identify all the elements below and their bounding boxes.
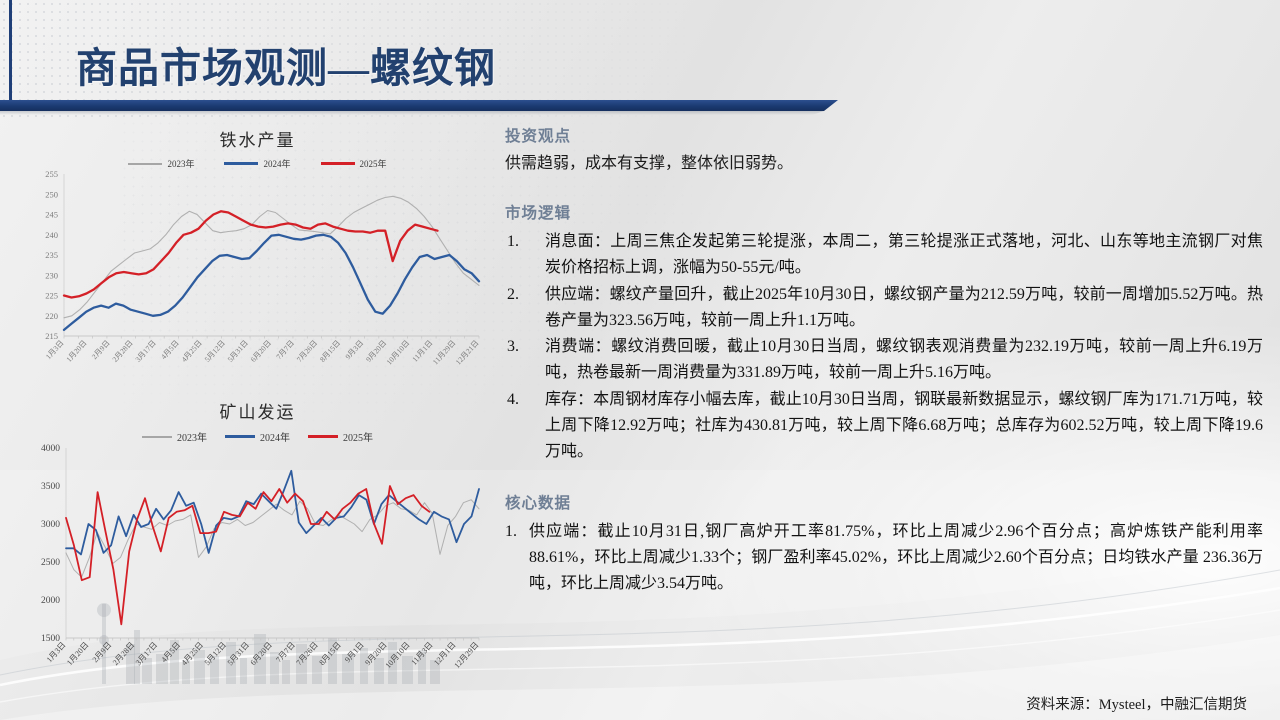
svg-text:8月15日: 8月15日 bbox=[318, 338, 342, 364]
svg-text:2000: 2000 bbox=[41, 596, 60, 606]
legend-swatch-2025 bbox=[321, 162, 355, 165]
section-heading-market-logic: 市场逻辑 bbox=[505, 201, 1263, 223]
legend-label-2025: 2025年 bbox=[360, 157, 387, 170]
list-item-text: 供应端：螺纹产量回升，截止2025年10月30日，螺纹钢产量为212.59万吨，… bbox=[545, 286, 1263, 329]
header-accent-bar-shadow bbox=[0, 111, 838, 115]
svg-text:12月21日: 12月21日 bbox=[454, 338, 481, 366]
chart1-legend: 2023年 2024年 2025年 bbox=[30, 157, 485, 170]
market-logic-list: 1. 消息面：上周三焦企发起第三轮提涨，本周二，第三轮提涨正式落地，河北、山东等… bbox=[505, 229, 1263, 465]
source-note: 资料来源：Mysteel，中融汇信期货 bbox=[1026, 693, 1247, 714]
svg-text:7月26日: 7月26日 bbox=[294, 640, 319, 667]
list-item-number: 1. bbox=[505, 519, 527, 545]
svg-text:240: 240 bbox=[45, 230, 58, 240]
svg-text:4月5日: 4月5日 bbox=[159, 338, 181, 361]
page-title: 商品市场观测—螺纹钢 bbox=[76, 34, 496, 94]
legend-swatch-2024 bbox=[225, 435, 255, 438]
chart1-plot-area: 2152202252302352402452502551月3日1月20日2月9日… bbox=[30, 170, 485, 388]
list-item: 4. 库存：本周钢材库存小幅去库，截止10月30日当周，钢联最新数据显示，螺纹钢… bbox=[505, 387, 1263, 465]
svg-text:9月1日: 9月1日 bbox=[343, 640, 366, 664]
svg-text:6月20日: 6月20日 bbox=[249, 338, 273, 364]
list-item-text: 消息面：上周三焦企发起第三轮提涨，本周二，第三轮提涨正式落地，河北、山东等地主流… bbox=[545, 233, 1263, 276]
svg-text:5月12日: 5月12日 bbox=[203, 640, 228, 667]
svg-text:2月28日: 2月28日 bbox=[111, 640, 136, 667]
svg-text:250: 250 bbox=[45, 189, 58, 199]
legend-swatch-2023 bbox=[142, 436, 172, 438]
list-item-number: 4. bbox=[507, 387, 537, 413]
svg-text:4月5日: 4月5日 bbox=[159, 640, 182, 664]
chart2-legend-item-2023: 2023年 bbox=[142, 429, 207, 444]
list-item: 1. 供应端：截止10月31日,钢厂高炉开工率81.75%，环比上周减少2.96… bbox=[505, 519, 1263, 597]
section-market-logic: 市场逻辑 1. 消息面：上周三焦企发起第三轮提涨，本周二，第三轮提涨正式落地，河… bbox=[505, 201, 1263, 465]
legend-swatch-2025 bbox=[308, 435, 338, 438]
list-item-number: 1. bbox=[507, 229, 537, 255]
svg-text:5月12日: 5月12日 bbox=[203, 338, 227, 364]
chart-mine-shipment: 矿山发运 2023年 2024年 2025年 15002000250030003… bbox=[30, 398, 485, 698]
svg-text:2月9日: 2月9日 bbox=[91, 640, 114, 664]
list-item: 3. 消费端：螺纹消费回暖，截止10月30日当周，螺纹钢表观消费量为232.19… bbox=[505, 334, 1263, 386]
legend-label-2024: 2024年 bbox=[263, 157, 290, 170]
list-item-text: 消费端：螺纹消费回暖，截止10月30日当周，螺纹钢表观消费量为232.19万吨，… bbox=[545, 338, 1263, 381]
svg-text:8月15日: 8月15日 bbox=[317, 640, 342, 667]
chart2-legend-item-2025: 2025年 bbox=[308, 429, 373, 444]
chart2-legend-item-2024: 2024年 bbox=[225, 429, 290, 444]
svg-text:12月29日: 12月29日 bbox=[452, 640, 480, 670]
svg-text:2月9日: 2月9日 bbox=[90, 338, 112, 361]
legend-swatch-2024 bbox=[224, 162, 258, 165]
section-heading-investment-view: 投资观点 bbox=[505, 124, 1263, 146]
chart2-plot-area: 1500200025003000350040001月3日1月20日2月9日2月2… bbox=[30, 444, 485, 696]
svg-text:11月3日: 11月3日 bbox=[409, 640, 434, 667]
svg-text:4月25日: 4月25日 bbox=[180, 640, 205, 667]
svg-text:7月7日: 7月7日 bbox=[274, 640, 297, 664]
list-item-number: 3. bbox=[507, 334, 537, 360]
svg-text:225: 225 bbox=[45, 291, 58, 301]
legend-swatch-2023 bbox=[128, 163, 162, 165]
svg-text:3月17日: 3月17日 bbox=[134, 640, 159, 667]
svg-text:10月10日: 10月10日 bbox=[385, 338, 412, 366]
header-accent-bar bbox=[0, 100, 838, 111]
chart1-legend-item-2024: 2024年 bbox=[224, 157, 290, 170]
chart2-svg: 1500200025003000350040001月3日1月20日2月9日2月2… bbox=[30, 444, 485, 696]
chart1-svg: 2152202252302352402452502551月3日1月20日2月9日… bbox=[30, 170, 485, 388]
svg-text:7月26日: 7月26日 bbox=[295, 338, 319, 364]
list-item-number: 2. bbox=[507, 282, 537, 308]
svg-text:2500: 2500 bbox=[41, 558, 60, 568]
svg-text:1月20日: 1月20日 bbox=[65, 640, 90, 667]
svg-text:6月20日: 6月20日 bbox=[249, 640, 274, 667]
chart1-legend-item-2023: 2023年 bbox=[128, 157, 194, 170]
svg-text:1月20日: 1月20日 bbox=[64, 338, 88, 364]
core-data-list: 1. 供应端：截止10月31日,钢厂高炉开工率81.75%，环比上周减少2.96… bbox=[505, 519, 1263, 597]
svg-text:10月10日: 10月10日 bbox=[384, 640, 412, 670]
legend-label-2024: 2024年 bbox=[260, 429, 290, 444]
svg-text:5月31日: 5月31日 bbox=[226, 338, 250, 364]
svg-text:215: 215 bbox=[45, 331, 58, 341]
svg-text:11月29日: 11月29日 bbox=[431, 338, 458, 366]
section-investment-view: 投资观点 供需趋弱，成本有支撑，整体依旧弱势。 bbox=[505, 124, 1263, 177]
list-item: 2. 供应端：螺纹产量回升，截止2025年10月30日，螺纹钢产量为212.59… bbox=[505, 282, 1263, 334]
left-accent-bar bbox=[9, 0, 12, 107]
svg-text:3500: 3500 bbox=[41, 482, 60, 492]
svg-text:4月25日: 4月25日 bbox=[180, 338, 204, 364]
svg-text:2月28日: 2月28日 bbox=[110, 338, 134, 364]
chart1-legend-item-2025: 2025年 bbox=[321, 157, 387, 170]
legend-label-2023: 2023年 bbox=[167, 157, 194, 170]
svg-text:235: 235 bbox=[45, 250, 58, 260]
svg-text:230: 230 bbox=[45, 270, 58, 280]
svg-text:220: 220 bbox=[45, 311, 58, 321]
chart-molten-iron-output: 铁水产量 2023年 2024年 2025年 21522022523023524… bbox=[30, 126, 485, 388]
svg-text:3月17日: 3月17日 bbox=[133, 338, 157, 364]
slide-root: 商品市场观测—螺纹钢 铁水产量 2023年 2024年 2025年 215220… bbox=[0, 0, 1280, 720]
svg-text:255: 255 bbox=[45, 170, 58, 179]
list-item-text: 库存：本周钢材库存小幅去库，截止10月30日当周，钢联最新数据显示，螺纹钢厂库为… bbox=[545, 391, 1263, 460]
content-column: 投资观点 供需趋弱，成本有支撑，整体依旧弱势。 市场逻辑 1. 消息面：上周三焦… bbox=[505, 124, 1263, 684]
section-core-data: 核心数据 1. 供应端：截止10月31日,钢厂高炉开工率81.75%，环比上周减… bbox=[505, 491, 1263, 597]
legend-label-2023: 2023年 bbox=[177, 429, 207, 444]
investment-view-text: 供需趋弱，成本有支撑，整体依旧弱势。 bbox=[505, 152, 1263, 177]
svg-text:7月7日: 7月7日 bbox=[274, 338, 296, 361]
svg-text:5月31日: 5月31日 bbox=[226, 640, 251, 667]
svg-text:4000: 4000 bbox=[41, 444, 60, 454]
legend-label-2025: 2025年 bbox=[343, 429, 373, 444]
svg-text:3000: 3000 bbox=[41, 520, 60, 530]
chart2-legend: 2023年 2024年 2025年 bbox=[30, 429, 485, 444]
section-heading-core-data: 核心数据 bbox=[505, 491, 1263, 513]
svg-text:245: 245 bbox=[45, 210, 58, 220]
chart2-title: 矿山发运 bbox=[30, 398, 485, 423]
list-item-text: 供应端：截止10月31日,钢厂高炉开工率81.75%，环比上周减少2.96个百分… bbox=[529, 523, 1263, 592]
chart1-title: 铁水产量 bbox=[30, 126, 485, 151]
list-item: 1. 消息面：上周三焦企发起第三轮提涨，本周二，第三轮提涨正式落地，河北、山东等… bbox=[505, 229, 1263, 281]
svg-text:9月3日: 9月3日 bbox=[343, 338, 365, 361]
svg-text:1月3日: 1月3日 bbox=[44, 338, 66, 361]
